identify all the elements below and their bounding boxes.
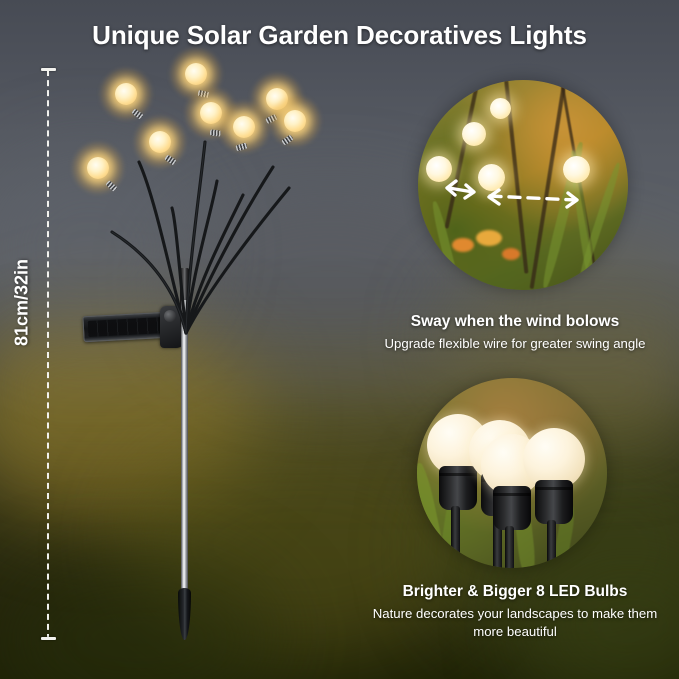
feature-image-brightness (417, 378, 607, 568)
led-bulb (113, 81, 139, 107)
feature-caption-brightness: Brighter & Bigger 8 LED Bulbs Nature dec… (360, 582, 670, 640)
feature-caption-sway: Sway when the wind bolows Upgrade flexib… (360, 312, 670, 353)
led-bulb (282, 108, 308, 134)
led-bulb (85, 155, 111, 181)
ground-spike-tip (178, 588, 191, 640)
product-infographic: Unique Solar Garden Decoratives Lights 8… (0, 0, 679, 679)
feature-title: Brighter & Bigger 8 LED Bulbs (360, 582, 670, 601)
stake-pole (181, 300, 188, 600)
feature-subtitle: Nature decorates your landscapes to make… (360, 605, 670, 639)
led-bulb (183, 61, 209, 87)
feature-title: Sway when the wind bolows (360, 312, 670, 331)
feature-subtitle: Upgrade flexible wire for greater swing … (360, 335, 670, 352)
double-headed-sway-arrows (418, 80, 628, 290)
led-bulb (231, 114, 257, 140)
product-image (0, 0, 400, 679)
feature-image-sway (418, 80, 628, 290)
led-bulb (147, 129, 173, 155)
